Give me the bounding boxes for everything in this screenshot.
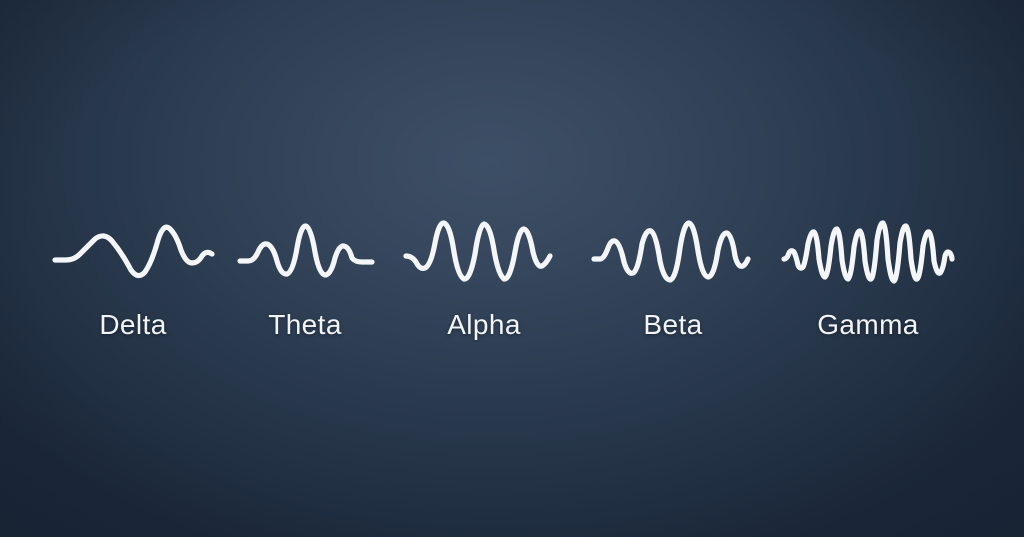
label-gamma: Gamma <box>788 308 948 342</box>
label-alpha: Alpha <box>404 308 564 342</box>
waveform-labels: Delta Theta Alpha Beta Gamma <box>0 0 1024 537</box>
eeg-brainwave-figure: Delta Theta Alpha Beta Gamma <box>0 0 1024 537</box>
label-delta: Delta <box>53 308 213 342</box>
label-theta: Theta <box>225 308 385 342</box>
label-beta: Beta <box>593 308 753 342</box>
